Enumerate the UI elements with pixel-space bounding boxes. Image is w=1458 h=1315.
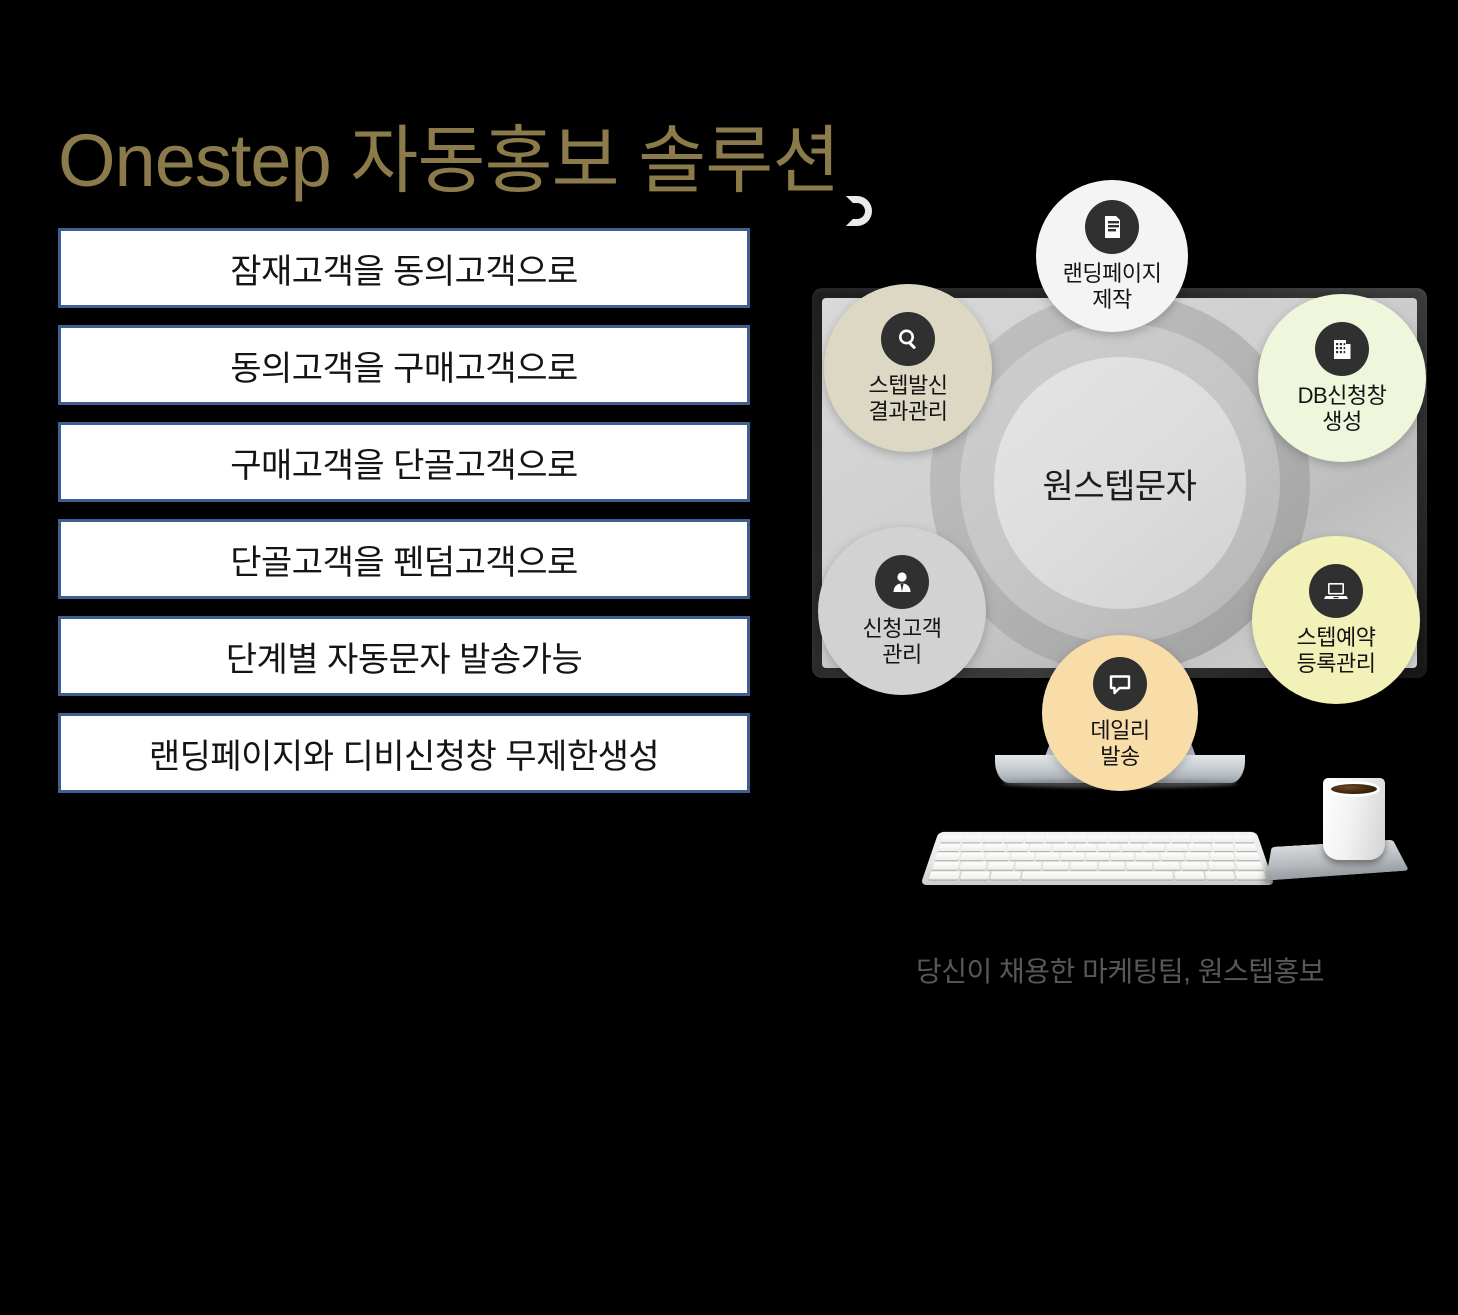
keyboard-row [941, 836, 1254, 843]
hub-label: 원스텝문자 [1043, 459, 1197, 508]
feature-item-label: 단계별 자동문자 발송가능 [226, 632, 582, 681]
feature-item-label: 구매고객을 단골고객으로 [230, 438, 578, 487]
feature-item[interactable]: 동의고객을 구매고객으로 [58, 325, 750, 405]
bubble-send-result[interactable]: 스텝발신 결과관리 [824, 284, 992, 452]
keyboard-row [938, 844, 1257, 851]
bubble-db-form[interactable]: DB신청창 생성 [1258, 294, 1426, 462]
document-icon [1085, 200, 1139, 254]
orbit-ring-inner: 원스텝문자 [994, 357, 1246, 609]
feature-item-label: 단골고객을 펜덤고객으로 [230, 535, 578, 584]
feature-item[interactable]: 랜딩페이지와 디비신청창 무제한생성 [58, 713, 750, 793]
mug-handle [846, 196, 872, 226]
bubble-customer-management[interactable]: 신청고객 관리 [818, 527, 986, 695]
feature-item[interactable]: 잠재고객을 동의고객으로 [58, 228, 750, 308]
feature-item-label: 랜딩페이지와 디비신청창 무제한생성 [149, 729, 659, 778]
feature-item[interactable]: 단계별 자동문자 발송가능 [58, 616, 750, 696]
keyboard-row [935, 853, 1260, 860]
bubble-label: 스텝발신 결과관리 [869, 373, 948, 424]
feature-list: 잠재고객을 동의고객으로 동의고객을 구매고객으로 구매고객을 단골고객으로 단… [58, 228, 750, 810]
bubble-label: 랜딩페이지 제작 [1063, 261, 1162, 312]
keyboard [920, 832, 1274, 885]
chat-bubble-icon [1093, 657, 1147, 711]
person-icon [875, 555, 929, 609]
page-title: Onestep 자동홍보 솔루션 [58, 124, 839, 198]
building-icon [1315, 322, 1369, 376]
coffee-mug [1323, 778, 1385, 860]
bubble-label: 신청고객 관리 [863, 616, 942, 667]
tagline: 당신이 채용한 마케팅팀, 원스텝홍보 [790, 950, 1450, 990]
feature-item[interactable]: 단골고객을 펜덤고객으로 [58, 519, 750, 599]
feature-item-label: 잠재고객을 동의고객으로 [230, 244, 578, 293]
keyboard-row [929, 872, 1267, 880]
laptop-icon [1309, 564, 1363, 618]
feature-item-label: 동의고객을 구매고객으로 [230, 341, 578, 390]
bubble-daily-send[interactable]: 데일리 발송 [1042, 635, 1198, 791]
search-icon [881, 312, 935, 366]
bubble-label: 데일리 발송 [1090, 718, 1149, 769]
bubble-landing-page[interactable]: 랜딩페이지 제작 [1036, 180, 1188, 332]
solution-diagram: 원스텝문자 랜딩페이지 제작 스텝발신 결과관리 [790, 170, 1450, 1000]
bubble-label: DB신청창 생성 [1298, 383, 1387, 434]
feature-item[interactable]: 구매고객을 단골고객으로 [58, 422, 750, 502]
coffee-surface [1328, 781, 1380, 797]
keyboard-row [932, 862, 1263, 870]
bubble-label: 스텝예약 등록관리 [1297, 625, 1376, 676]
keyboard-keys [929, 836, 1267, 880]
bubble-schedule-registration[interactable]: 스텝예약 등록관리 [1252, 536, 1420, 704]
